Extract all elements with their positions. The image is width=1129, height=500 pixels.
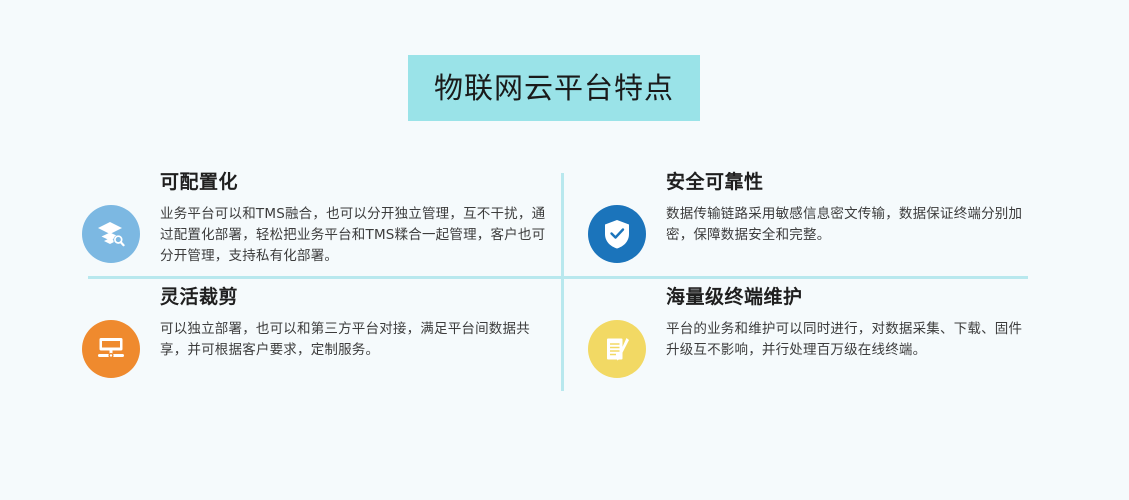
shield-check-icon bbox=[588, 205, 646, 263]
horizontal-divider bbox=[88, 276, 1028, 279]
notepad-pen-icon bbox=[588, 320, 646, 378]
title-banner: 物联网云平台特点 bbox=[408, 55, 700, 121]
feature-description: 平台的业务和维护可以同时进行，对数据采集、下载、固件升级互不影响，并行处理百万级… bbox=[666, 319, 1034, 361]
feature-description: 数据传输链路采用敏感信息密文传输，数据保证终端分别加密，保障数据安全和完整。 bbox=[666, 204, 1034, 246]
feature-body: 灵活裁剪 可以独立部署，也可以和第三方平台对接，满足平台间数据共享，并可根据客户… bbox=[160, 288, 552, 361]
layers-search-icon bbox=[82, 205, 140, 263]
feature-body: 海量级终端维护 平台的业务和维护可以同时进行，对数据采集、下载、固件升级互不影响… bbox=[666, 288, 1058, 361]
feature-title: 海量级终端维护 bbox=[666, 288, 1058, 307]
feature-title: 灵活裁剪 bbox=[160, 288, 552, 307]
feature-title: 安全可靠性 bbox=[666, 173, 1058, 192]
feature-body: 安全可靠性 数据传输链路采用敏感信息密文传输，数据保证终端分别加密，保障数据安全… bbox=[666, 173, 1058, 246]
feature-body: 可配置化 业务平台可以和TMS融合，也可以分开独立管理，互不干扰，通过配置化部署… bbox=[160, 173, 552, 267]
feature-description: 业务平台可以和TMS融合，也可以分开独立管理，互不干扰，通过配置化部署，轻松把业… bbox=[160, 204, 552, 267]
feature-title: 可配置化 bbox=[160, 173, 552, 192]
monitor-icon bbox=[82, 320, 140, 378]
vertical-divider bbox=[561, 173, 564, 391]
feature-description: 可以独立部署，也可以和第三方平台对接，满足平台间数据共享，并可根据客户要求，定制… bbox=[160, 319, 552, 361]
iot-platform-features-infographic: 物联网云平台特点 可配置化 业务平台可以和TMS融合，也可以分开独立管理，互不干… bbox=[0, 0, 1129, 500]
page-title: 物联网云平台特点 bbox=[434, 74, 674, 103]
